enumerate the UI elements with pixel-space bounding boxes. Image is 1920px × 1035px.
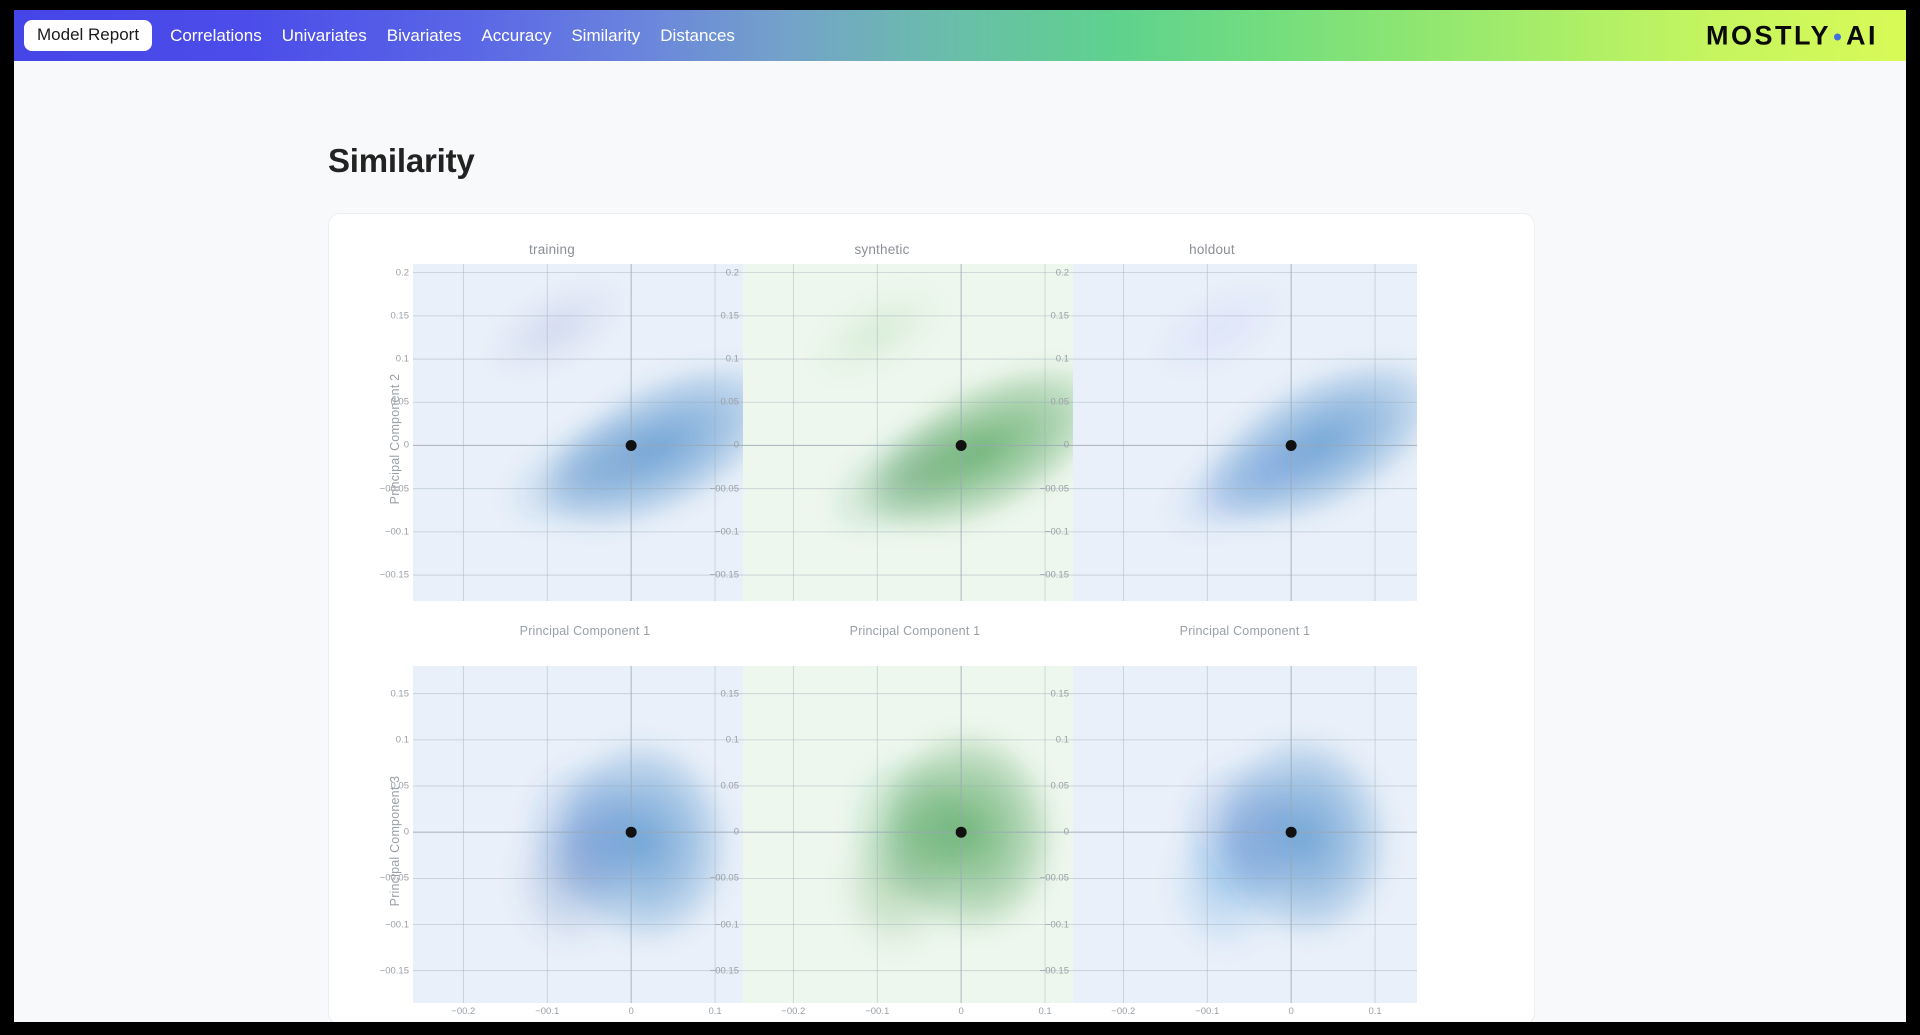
report-window: Model Report Correlations Univariates Bi… [14, 10, 1906, 1022]
brand-dot-icon [1834, 33, 1841, 40]
y-tick-label: −00.05 [710, 483, 739, 494]
y-tick-label: 0 [1064, 440, 1069, 451]
y-axis-label: Principal Component 2 [388, 339, 402, 539]
y-tick-label: 0 [734, 440, 739, 451]
y-tick-label: 0.15 [1051, 688, 1070, 699]
y-tick-label: −00.15 [710, 965, 739, 976]
y-tick-label: −00.1 [1045, 919, 1069, 930]
y-tick-label: 0.1 [726, 734, 739, 745]
y-tick-label: 0.05 [721, 397, 740, 408]
x-axis-label: Principal Component 1 [1073, 624, 1417, 638]
y-tick-label: −00.1 [715, 919, 739, 930]
y-tick-label: 0.15 [391, 688, 410, 699]
y-tick-label: 0.1 [726, 354, 739, 365]
x-tick-label: −00.2 [781, 1006, 805, 1017]
x-tick-label: 0 [1288, 1006, 1293, 1017]
y-tick-label: −00.05 [1040, 483, 1069, 494]
nav-item-model-report[interactable]: Model Report [24, 20, 152, 51]
y-tick-label: 0.2 [1056, 267, 1069, 278]
nav-item-distances[interactable]: Distances [660, 26, 735, 46]
page-title: Similarity [328, 142, 475, 180]
y-tick-label: 0 [404, 827, 409, 838]
x-tick-label: 0 [628, 1006, 633, 1017]
y-tick-label: −00.1 [715, 526, 739, 537]
nav-item-accuracy[interactable]: Accuracy [481, 26, 551, 46]
y-axis-ticks: 0.20.150.10.050−00.05−00.1−00.15 [1029, 264, 1069, 601]
y-tick-label: −00.15 [1040, 570, 1069, 581]
y-tick-label: 0.1 [1056, 734, 1069, 745]
y-tick-label: 0.2 [396, 267, 409, 278]
app-header: Model Report Correlations Univariates Bi… [14, 10, 1906, 61]
nav-item-univariates[interactable]: Univariates [282, 26, 367, 46]
y-axis-ticks: 0.20.150.10.050−00.05−00.1−00.15 [699, 264, 739, 601]
brand-text-ai: AI [1846, 20, 1878, 51]
plot-area-holdout [1073, 264, 1417, 601]
y-tick-label: −00.1 [1045, 526, 1069, 537]
nav-item-correlations[interactable]: Correlations [170, 26, 262, 46]
y-tick-label: −00.15 [710, 570, 739, 581]
mostly-ai-logo: MOSTLY AI [1706, 20, 1878, 51]
x-tick-label: −00.2 [451, 1006, 475, 1017]
y-tick-label: 0 [404, 440, 409, 451]
x-tick-label: −00.1 [1195, 1006, 1219, 1017]
pca-panel-holdout-pc3: 0.150.10.050−00.05−00.1−00.15−00.2−00.10… [1007, 644, 1417, 1022]
y-tick-label: 0.15 [391, 310, 410, 321]
y-tick-label: 0.1 [1056, 354, 1069, 365]
y-tick-label: 0.05 [1051, 397, 1070, 408]
pca-panel-holdout-pc2: holdout0.20.150.10.050−00.05−00.1−00.15P… [1007, 242, 1417, 642]
y-tick-label: 0.05 [721, 781, 740, 792]
y-tick-label: −00.15 [380, 570, 409, 581]
pca-plot-grid: training0.20.150.10.050−00.05−00.1−00.15… [329, 214, 1534, 1022]
y-tick-label: 0.05 [1051, 781, 1070, 792]
similarity-card: training0.20.150.10.050−00.05−00.1−00.15… [328, 213, 1535, 1022]
y-axis-ticks: 0.150.10.050−00.05−00.1−00.15 [1029, 666, 1069, 1003]
x-tick-label: −00.1 [865, 1006, 889, 1017]
x-tick-label: −00.1 [535, 1006, 559, 1017]
y-tick-label: 0 [734, 827, 739, 838]
plot-area-holdout [1073, 666, 1417, 1003]
y-axis-label: Principal Component 3 [388, 741, 402, 941]
main-nav: Model Report Correlations Univariates Bi… [24, 20, 735, 51]
y-tick-label: 0.15 [1051, 310, 1070, 321]
brand-text-mostly: MOSTLY [1706, 20, 1831, 51]
y-tick-label: 0.15 [721, 310, 740, 321]
x-axis-ticks: −00.2−00.100.1 [1073, 1006, 1417, 1022]
y-tick-label: −00.15 [1040, 965, 1069, 976]
y-tick-label: 0.2 [726, 267, 739, 278]
nav-item-bivariates[interactable]: Bivariates [387, 26, 462, 46]
x-tick-label: −00.2 [1111, 1006, 1135, 1017]
page-body: Similarity training0.20.150.10.050−00.05… [14, 61, 1906, 1022]
y-tick-label: 0 [1064, 827, 1069, 838]
nav-item-similarity[interactable]: Similarity [571, 26, 640, 46]
y-tick-label: −00.15 [380, 965, 409, 976]
y-tick-label: −00.05 [1040, 873, 1069, 884]
panel-title-holdout: holdout [1007, 242, 1417, 257]
x-tick-label: 0 [958, 1006, 963, 1017]
y-tick-label: −00.05 [710, 873, 739, 884]
y-axis-ticks: 0.150.10.050−00.05−00.1−00.15 [699, 666, 739, 1003]
x-tick-label: 0.1 [1368, 1006, 1381, 1017]
y-tick-label: 0.15 [721, 688, 740, 699]
